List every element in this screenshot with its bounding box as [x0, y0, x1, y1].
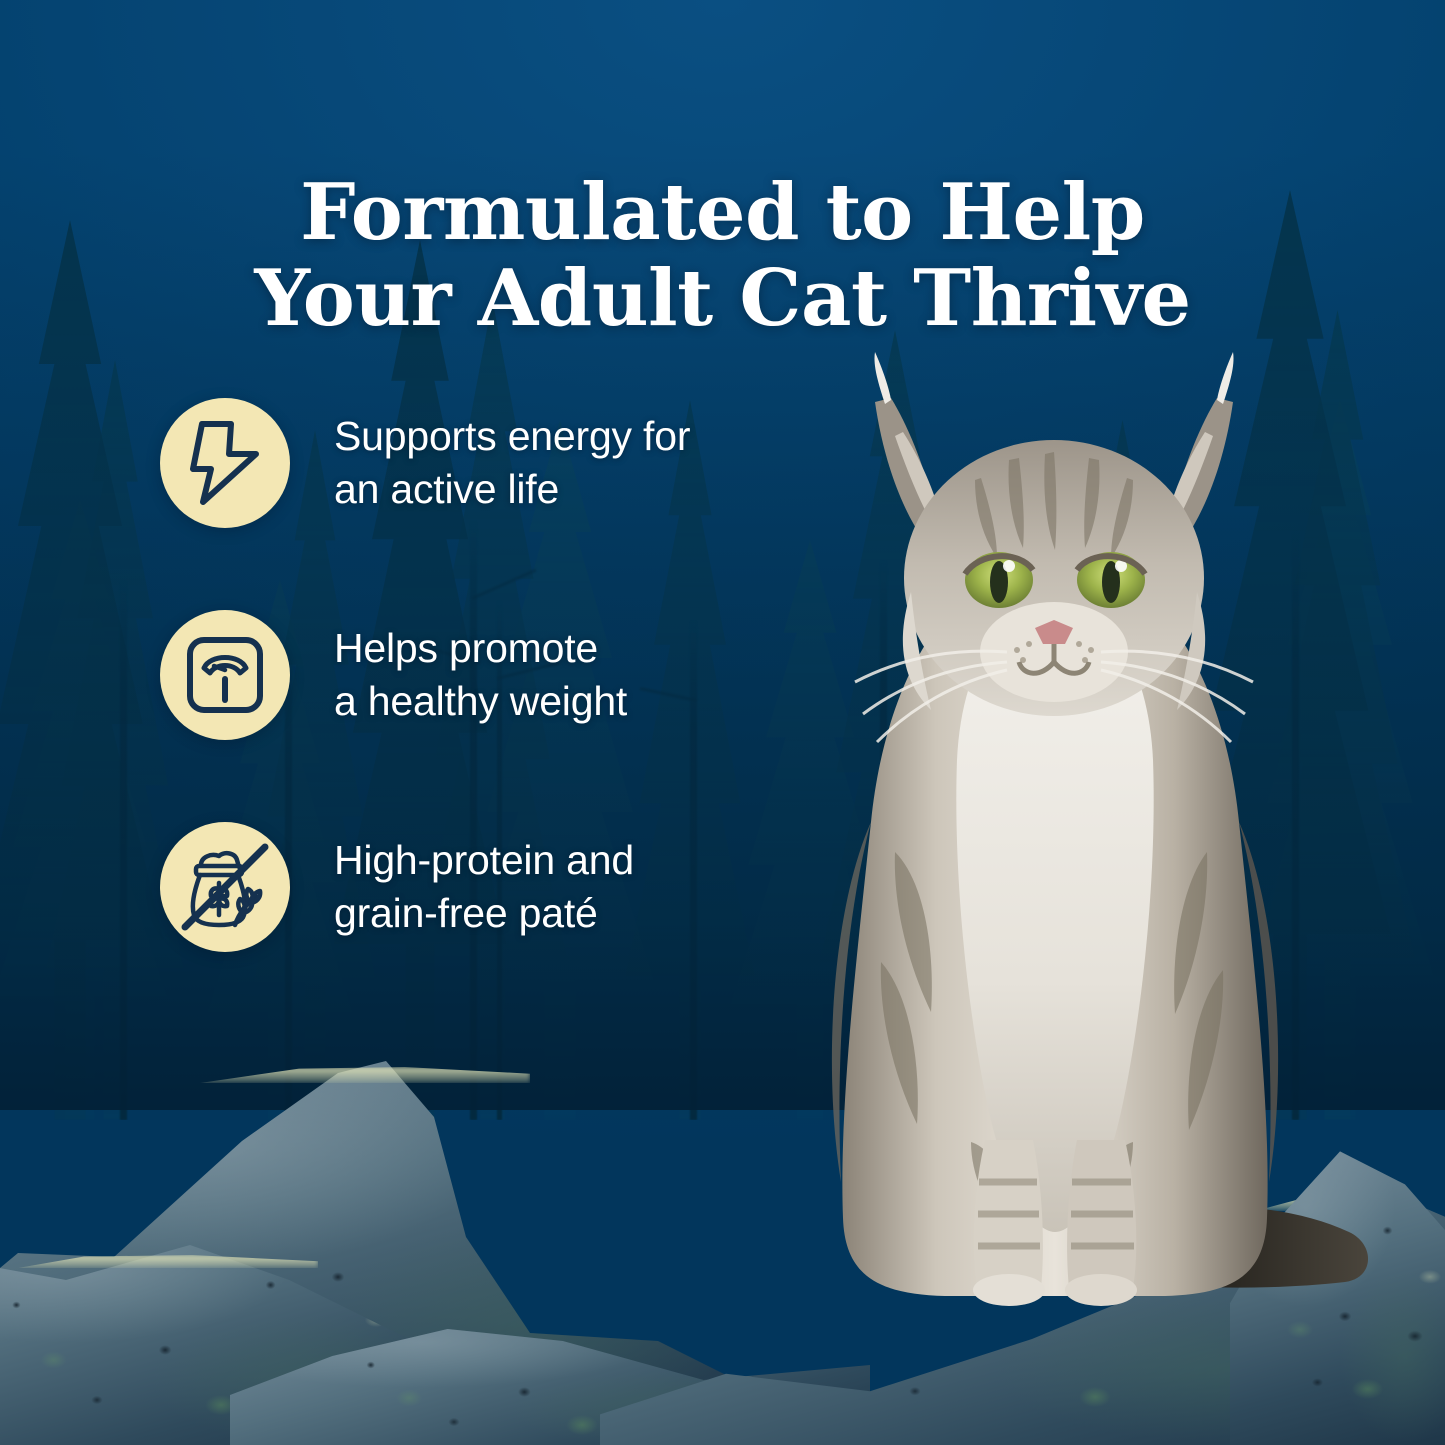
cat-photo	[735, 352, 1375, 1362]
headline-line-2: Your Adult Cat Thrive	[120, 256, 1325, 342]
lightning-bolt-icon	[186, 420, 264, 506]
benefit-text-weight: Helps promote a healthy weight	[334, 622, 627, 729]
cat-paw-right	[1065, 1274, 1137, 1306]
benefit-weight-line-2: a healthy weight	[334, 675, 627, 728]
cat-paw-left	[973, 1274, 1045, 1306]
benefit-weight-line-1: Helps promote	[334, 622, 627, 675]
benefit-icon-badge	[160, 610, 290, 740]
benefit-list: Supports energy for an active life Helps…	[160, 398, 780, 952]
benefit-grain-line-2: grain-free paté	[334, 887, 634, 940]
benefit-icon-badge	[160, 822, 290, 952]
benefit-text-grain-free: High-protein and grain-free paté	[334, 834, 634, 941]
page-title: Formulated to Help Your Adult Cat Thrive	[0, 170, 1445, 342]
headline-line-1: Formulated to Help	[300, 167, 1145, 258]
benefit-icon-badge	[160, 398, 290, 528]
benefit-energy-line-1: Supports energy for	[334, 410, 690, 463]
benefit-grain-line-1: High-protein and	[334, 834, 634, 887]
benefit-item-weight: Helps promote a healthy weight	[160, 610, 780, 740]
product-feature-banner: Formulated to Help Your Adult Cat Thrive…	[0, 0, 1445, 1445]
no-grain-icon	[177, 839, 273, 935]
benefit-energy-line-2: an active life	[334, 463, 690, 516]
benefit-item-energy: Supports energy for an active life	[160, 398, 780, 528]
weight-scale-icon	[184, 634, 266, 716]
benefit-text-energy: Supports energy for an active life	[334, 410, 690, 517]
benefit-item-grain-free: High-protein and grain-free paté	[160, 822, 780, 952]
